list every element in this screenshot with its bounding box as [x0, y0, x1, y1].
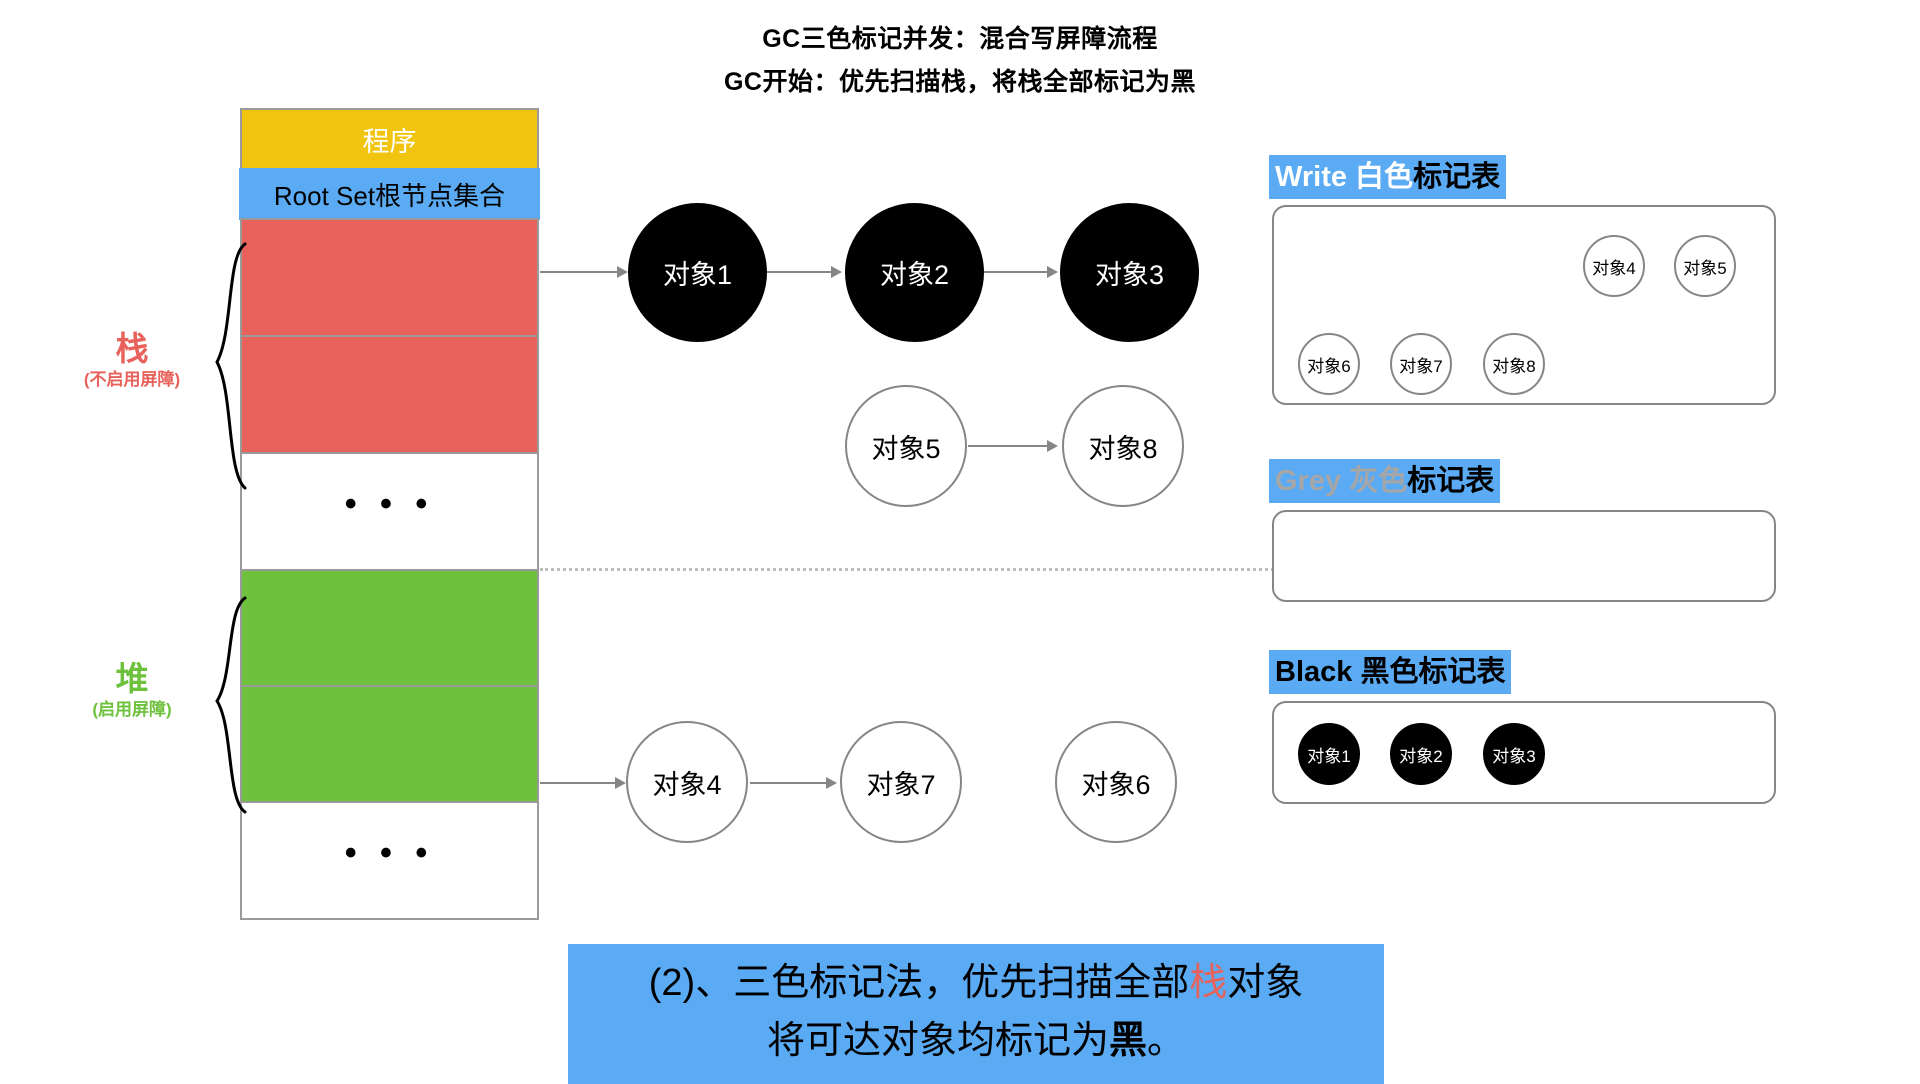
- title-line-2: GC开始：优先扫描栈，将栈全部标记为黑: [0, 61, 1920, 104]
- black-chip-obj3-label: 对象3: [1492, 742, 1535, 767]
- root-set-block: Root Set根节点集合: [239, 168, 540, 220]
- black-chip-obj1-label: 对象1: [1307, 742, 1350, 767]
- stack-ellipsis: • • •: [240, 452, 539, 571]
- node-obj6: 对象6: [1055, 721, 1177, 843]
- grey-table-title-cn: 灰色: [1349, 465, 1407, 497]
- stack-frame-2: [240, 335, 539, 454]
- caption-line-2: 将可达对象均标记为黑。: [568, 1012, 1384, 1070]
- section-divider: [540, 568, 1280, 571]
- white-chip-obj4-label: 对象4: [1592, 254, 1635, 279]
- edge-heap-to-obj4-head: [615, 777, 626, 789]
- black-mark-table-box: 对象1 对象2 对象3: [1272, 701, 1776, 804]
- heap-label-main: 堆: [52, 660, 212, 698]
- heap-label-sub: (启用屏障): [52, 698, 212, 722]
- memory-column: 程序 Root Set根节点集合 • • • • • •: [240, 108, 539, 918]
- black-mark-table-title: Black 黑色标记表: [1269, 650, 1511, 694]
- caption-line1-a: (2)、三色标记法，优先扫描全部: [649, 962, 1189, 1004]
- black-chip-obj3: 对象3: [1483, 723, 1545, 785]
- node-obj8: 对象8: [1062, 385, 1184, 507]
- heap-ellipsis: • • •: [240, 801, 539, 920]
- white-chip-obj7-label: 对象7: [1399, 352, 1442, 377]
- edge-root-to-obj1-head: [617, 266, 628, 278]
- edge-obj1-to-obj2-head: [831, 266, 842, 278]
- node-obj2: 对象2: [845, 203, 984, 342]
- node-obj3-label: 对象3: [1095, 253, 1164, 292]
- grey-mark-table-title: Grey 灰色标记表: [1269, 459, 1500, 503]
- node-obj7-label: 对象7: [866, 763, 935, 802]
- white-chip-obj8: 对象8: [1483, 333, 1545, 395]
- grey-mark-table-box: [1272, 510, 1776, 602]
- caption-line1-highlight: 栈: [1189, 962, 1227, 1004]
- edge-obj2-to-obj3-head: [1047, 266, 1058, 278]
- white-mark-table-box: 对象4 对象5 对象6 对象7 对象8: [1272, 205, 1776, 405]
- heap-label: 堆 (启用屏障): [52, 660, 212, 722]
- node-obj5-label: 对象5: [871, 427, 940, 466]
- white-mark-table-title: Write 白色标记表: [1269, 155, 1506, 199]
- title-line-1: GC三色标记并发：混合写屏障流程: [0, 18, 1920, 61]
- grey-table-title-tail: 标记表: [1407, 465, 1494, 497]
- white-chip-obj6-label: 对象6: [1307, 352, 1350, 377]
- program-block: 程序: [240, 108, 539, 170]
- stack-label-sub: (不启用屏障): [52, 368, 212, 392]
- white-chip-obj8-label: 对象8: [1492, 352, 1535, 377]
- black-table-title-tail: 标记表: [1418, 656, 1505, 688]
- stack-label-main: 栈: [52, 330, 212, 368]
- white-chip-obj5-label: 对象5: [1683, 254, 1726, 279]
- node-obj1: 对象1: [628, 203, 767, 342]
- node-obj1-label: 对象1: [663, 253, 732, 292]
- node-obj5: 对象5: [845, 385, 967, 507]
- edge-root-to-obj1: [540, 271, 620, 273]
- white-chip-obj7: 对象7: [1390, 333, 1452, 395]
- caption-banner: (2)、三色标记法，优先扫描全部栈对象 将可达对象均标记为黑。: [568, 944, 1384, 1084]
- heap-frame-2: [240, 685, 539, 803]
- caption-line2-a: 将可达对象均标记为: [767, 1020, 1109, 1062]
- white-table-title-cn: 白色: [1355, 161, 1413, 193]
- black-chip-obj2: 对象2: [1390, 723, 1452, 785]
- black-chip-obj1: 对象1: [1298, 723, 1360, 785]
- black-chip-obj2-label: 对象2: [1399, 742, 1442, 767]
- white-chip-obj6: 对象6: [1298, 333, 1360, 395]
- white-table-title-tail: 标记表: [1413, 161, 1500, 193]
- white-table-title-en: Write: [1275, 161, 1347, 193]
- node-obj4: 对象4: [626, 721, 748, 843]
- white-chip-obj4: 对象4: [1583, 235, 1645, 297]
- edge-obj2-to-obj3: [984, 271, 1050, 273]
- white-chip-obj5: 对象5: [1674, 235, 1736, 297]
- edge-obj4-to-obj7-head: [826, 777, 837, 789]
- caption-line-1: (2)、三色标记法，优先扫描全部栈对象: [568, 954, 1384, 1012]
- caption-line2-highlight: 黑: [1109, 1020, 1147, 1062]
- stack-frame-1: [240, 218, 539, 337]
- diagram-title: GC三色标记并发：混合写屏障流程 GC开始：优先扫描栈，将栈全部标记为黑: [0, 18, 1920, 104]
- edge-obj5-to-obj8-head: [1047, 440, 1058, 452]
- node-obj2-label: 对象2: [880, 253, 949, 292]
- edge-obj4-to-obj7: [750, 782, 829, 784]
- node-obj7: 对象7: [840, 721, 962, 843]
- edge-heap-to-obj4: [540, 782, 618, 784]
- node-obj8-label: 对象8: [1088, 427, 1157, 466]
- black-table-title-en: Black: [1275, 656, 1352, 688]
- diagram-canvas: GC三色标记并发：混合写屏障流程 GC开始：优先扫描栈，将栈全部标记为黑 程序 …: [0, 0, 1920, 1080]
- stack-label: 栈 (不启用屏障): [52, 330, 212, 392]
- heap-frame-1: [240, 569, 539, 687]
- edge-obj5-to-obj8: [968, 445, 1050, 447]
- node-obj6-label: 对象6: [1081, 763, 1150, 802]
- edge-obj1-to-obj2: [767, 271, 834, 273]
- grey-table-title-en: Grey: [1275, 465, 1341, 497]
- node-obj3: 对象3: [1060, 203, 1199, 342]
- black-table-title-cn: 黑色: [1360, 656, 1418, 688]
- node-obj4-label: 对象4: [652, 763, 721, 802]
- caption-line1-b: 对象: [1227, 962, 1303, 1004]
- caption-line2-b: 。: [1147, 1020, 1185, 1062]
